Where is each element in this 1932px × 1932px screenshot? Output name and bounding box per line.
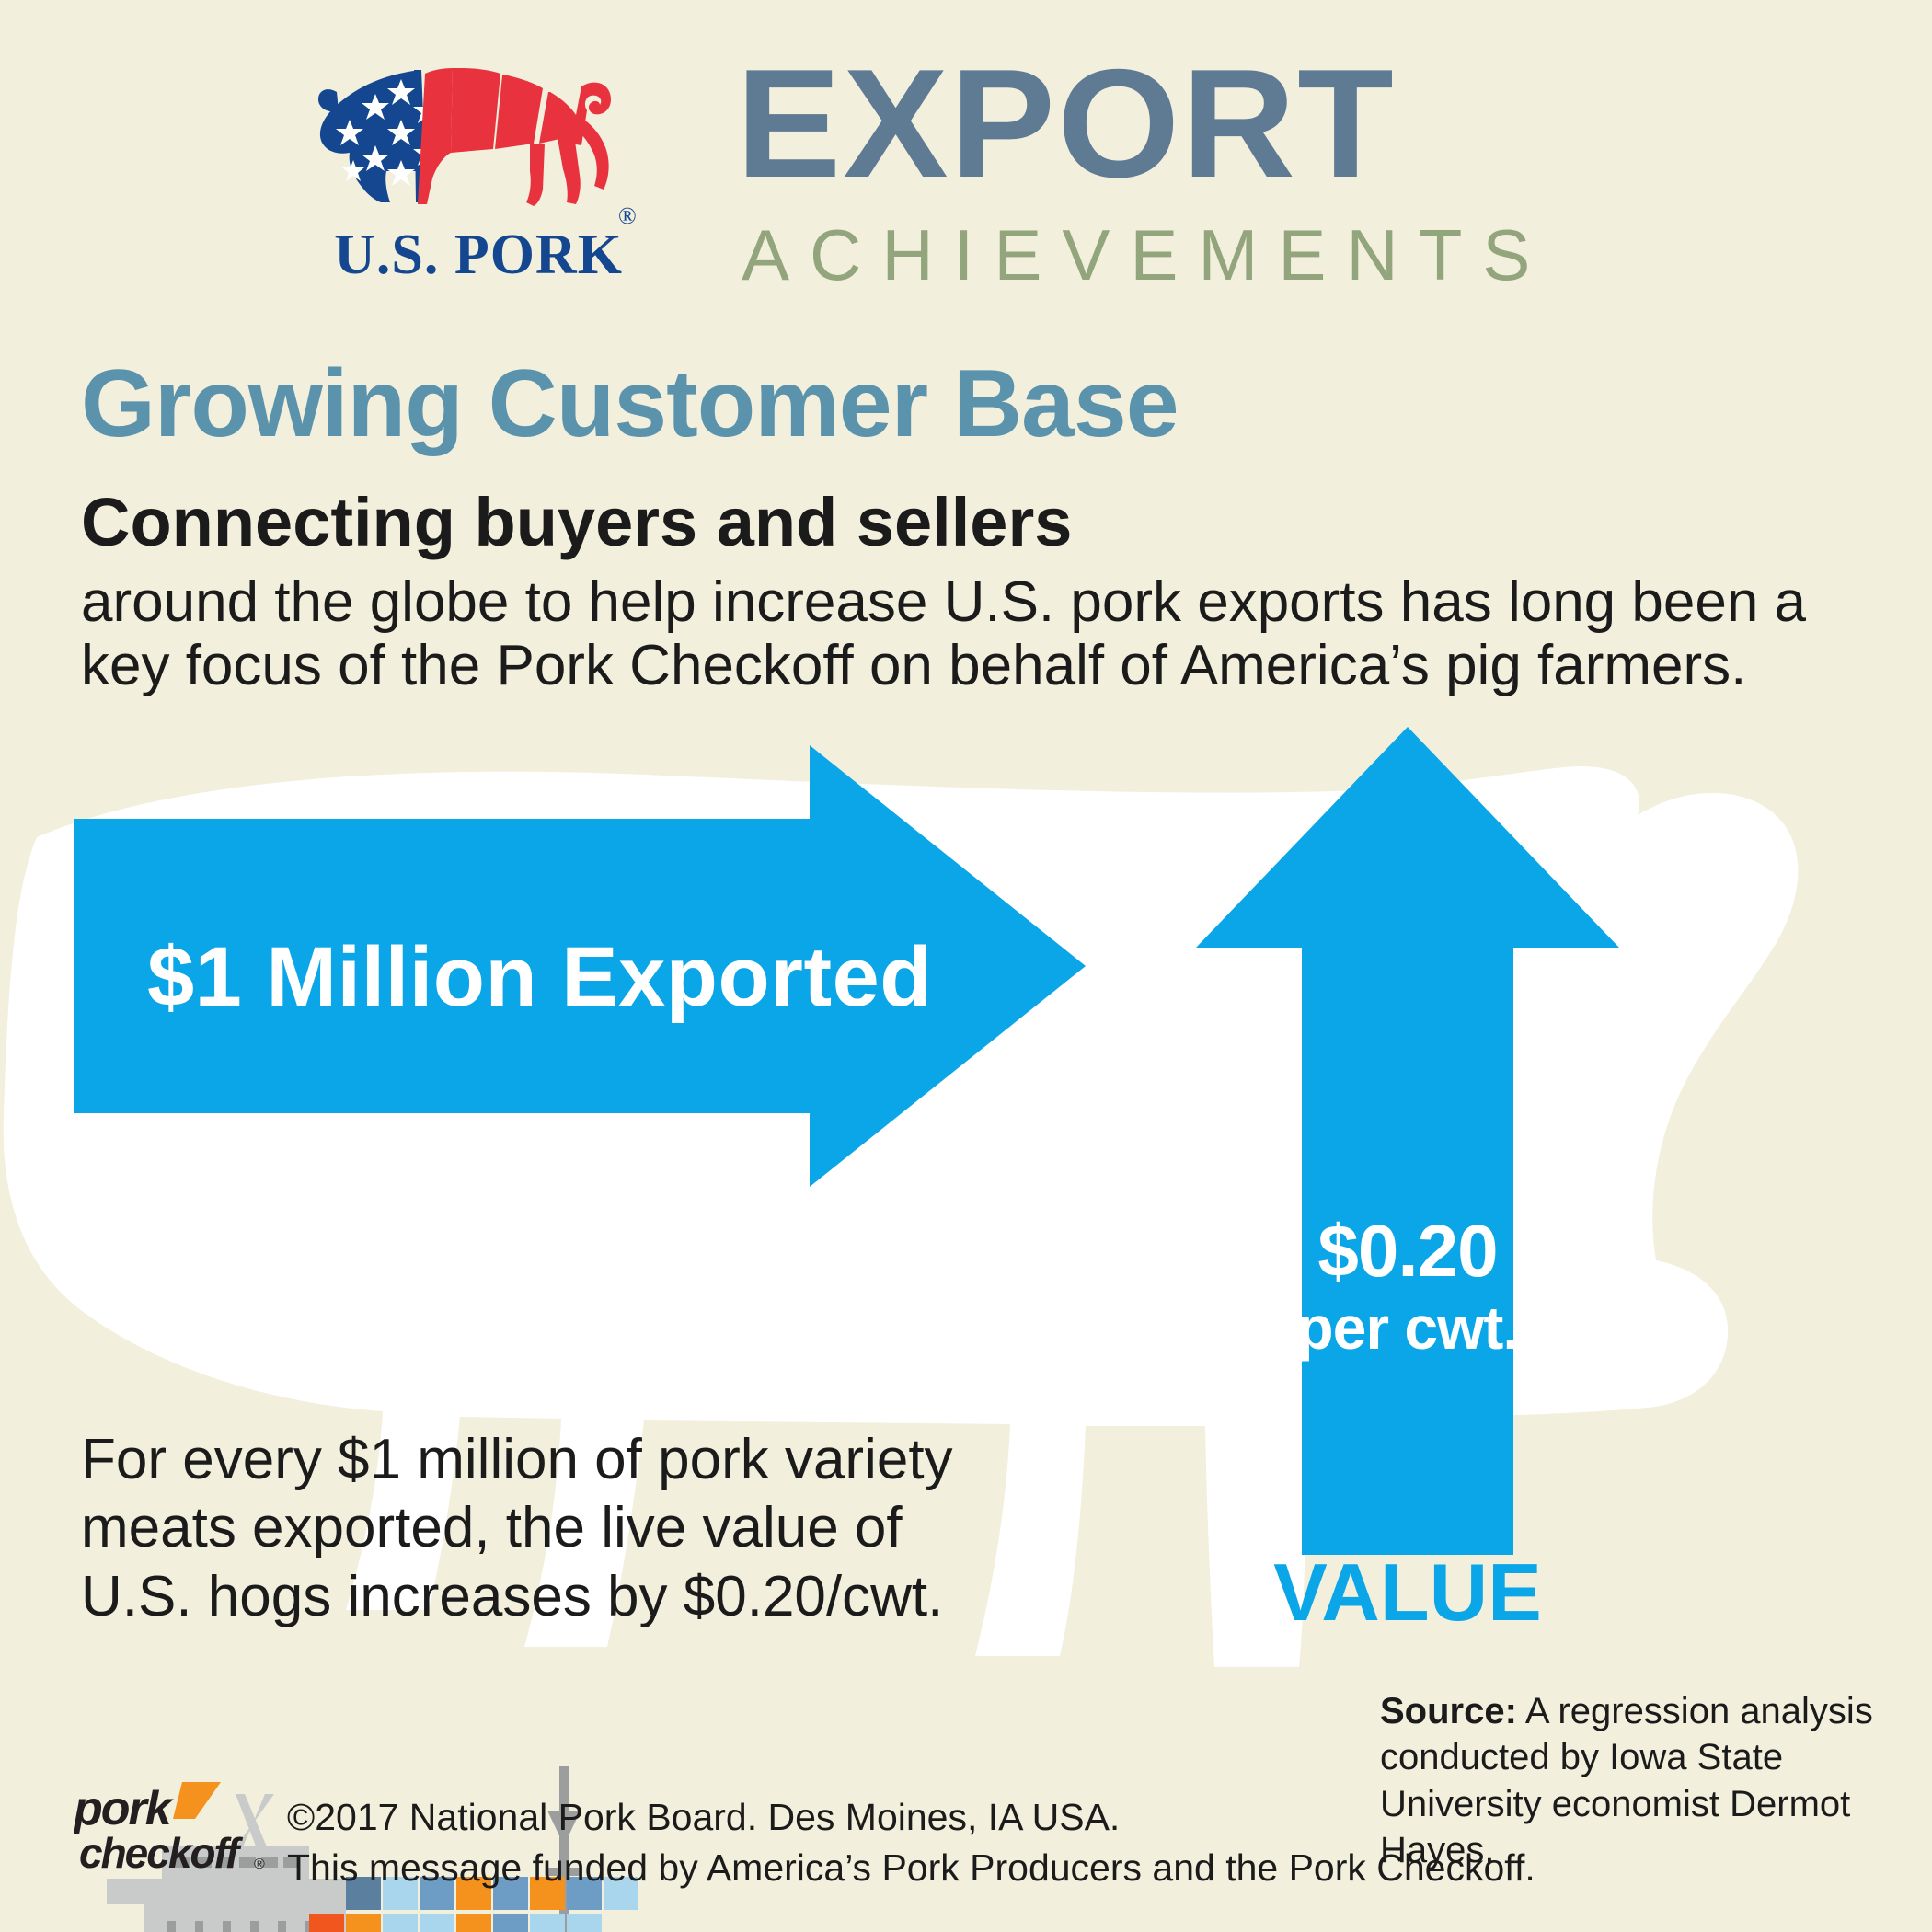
header: U.S. PORK ® EXPORT ACHIEVEMENTS — [0, 0, 1932, 322]
export-arrow-label: $1 Million Exported — [147, 929, 932, 1026]
footer-registered-mark-icon: ® — [254, 1857, 265, 1872]
value-amount-label: $0.20 — [1224, 1214, 1592, 1288]
page-title: Growing Customer Base — [81, 350, 1179, 459]
source-label: Source: — [1380, 1691, 1517, 1731]
copyright-line-2: This message funded by America’s Pork Pr… — [287, 1843, 1535, 1893]
checkmark-icon — [173, 1782, 221, 1819]
us-pork-logo: U.S. PORK ® — [294, 64, 681, 304]
intro-paragraph: around the globe to help increase U.S. p… — [81, 570, 1875, 698]
value-unit-label: per cwt. — [1224, 1293, 1592, 1363]
section-subheading: Connecting buyers and sellers — [81, 483, 1072, 561]
footer-brand-line1: pork — [74, 1782, 175, 1835]
value-arrow-up-icon — [1196, 727, 1619, 1555]
infographic-canvas: U.S. PORK ® EXPORT ACHIEVEMENTS Growing … — [0, 0, 1932, 1932]
page-header-title: EXPORT — [736, 51, 1396, 198]
registered-mark-icon: ® — [618, 202, 637, 230]
value-caption-label: VALUE — [1224, 1546, 1592, 1639]
explainer-paragraph: For every $1 million of pork variety mea… — [81, 1426, 964, 1631]
copyright-line-1: ©2017 National Pork Board. Des Moines, I… — [287, 1792, 1535, 1843]
pork-checkoff-logo: pork checkoff ® — [74, 1780, 285, 1881]
footer-brand-line2: checkoff — [79, 1829, 244, 1877]
flag-pig-icon — [313, 64, 644, 225]
copyright-block: ©2017 National Pork Board. Des Moines, I… — [287, 1792, 1535, 1894]
page-header-subtitle: ACHIEVEMENTS — [742, 213, 1550, 297]
logo-wordmark: U.S. PORK — [294, 223, 662, 288]
